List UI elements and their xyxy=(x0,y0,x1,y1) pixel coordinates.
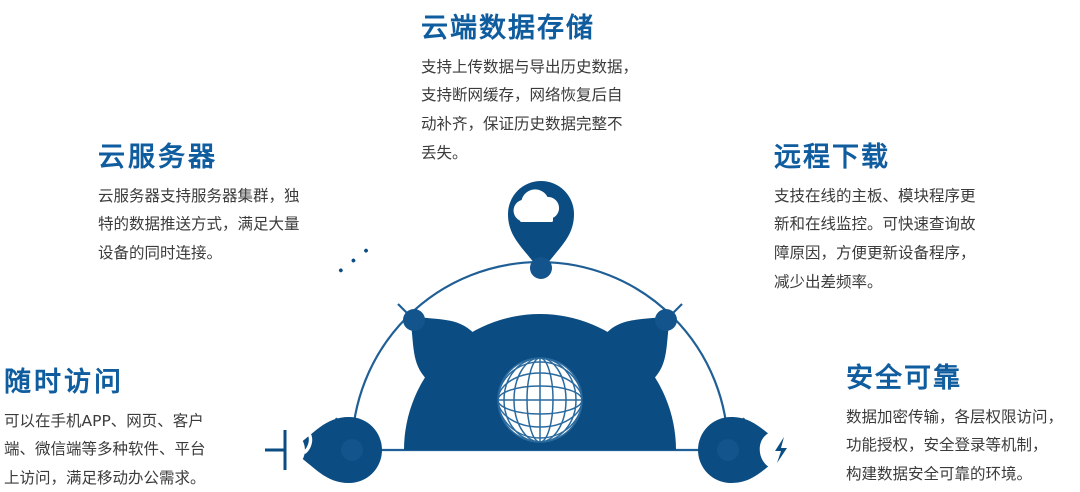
infographic-canvas: 云端数据存储 支持上传数据与导出历史数据， 支持断网缓存，网络恢复后自 动补齐，… xyxy=(0,0,1080,492)
text-line: 新和在线监控。可快速查询故 xyxy=(774,210,1014,239)
feature-body-cloud-server: 云服务器支持服务器集群，独 特的数据推送方式，满足大量 设备的同时连接。 xyxy=(98,182,346,268)
pin-cloud-server[interactable] xyxy=(331,240,498,403)
feature-body-secure-reliable: 数据加密传输，各层权限访问， 功能授权，安全登录等机制， 构建数据安全可靠的环境… xyxy=(846,403,1080,489)
text-line: 障原因，方便更新设备程序， xyxy=(774,239,1014,268)
node-bottom-right xyxy=(717,439,739,461)
feature-title-cloud-server: 云服务器 xyxy=(98,143,346,173)
feature-title-remote-download: 远程下载 xyxy=(774,143,1014,173)
feature-anytime-access: 随时访问 可以在手机APP、网页、客户 端、微信端等多种软件、平台 上访问，满足… xyxy=(4,368,250,492)
text-line: 特的数据推送方式，满足大量 xyxy=(98,210,346,239)
feature-title-anytime-access: 随时访问 xyxy=(4,368,250,398)
text-line: 构建数据安全可靠的环境。 xyxy=(846,460,1080,489)
text-line: 支持断网缓存，网络恢复后自 xyxy=(421,81,671,110)
pin-secure-reliable[interactable] xyxy=(698,417,797,483)
node-left-upper xyxy=(403,309,425,331)
feature-cloud-storage: 云端数据存储 支持上传数据与导出历史数据， 支持断网缓存，网络恢复后自 动补齐，… xyxy=(421,14,671,167)
text-line: 减少出差频率。 xyxy=(774,268,1014,297)
text-line: 云服务器支持服务器集群，独 xyxy=(98,182,346,211)
text-line: 支持上传数据与导出历史数据， xyxy=(421,53,671,82)
feature-body-remote-download: 支技在线的主板、模块程序更 新和在线监控。可快速查询故 障原因，方便更新设备程序… xyxy=(774,182,1014,297)
text-line: 设备的同时连接。 xyxy=(98,239,346,268)
text-line: 动补齐，保证历史数据完整不 xyxy=(421,110,671,139)
feature-cloud-server: 云服务器 云服务器支持服务器集群，独 特的数据推送方式，满足大量 设备的同时连接… xyxy=(98,143,346,268)
text-line: 端、微信端等多种软件、平台 xyxy=(4,435,250,464)
text-line: 可以在手机APP、网页、客户 xyxy=(4,407,250,436)
feature-body-cloud-storage: 支持上传数据与导出历史数据， 支持断网缓存，网络恢复后自 动补齐，保证历史数据完… xyxy=(421,53,671,168)
text-line: 数据加密传输，各层权限访问， xyxy=(846,403,1080,432)
feature-remote-download: 远程下载 支技在线的主板、模块程序更 新和在线监控。可快速查询故 障原因，方便更… xyxy=(774,143,1014,296)
text-line: 上访问，满足移动办公需求。 xyxy=(4,464,250,492)
text-line: 功能授权，安全登录等机制， xyxy=(846,431,1080,460)
text-line: 支技在线的主板、模块程序更 xyxy=(774,182,1014,211)
globe-wireframe-icon xyxy=(498,358,582,442)
computer-mouse-icon xyxy=(265,430,311,470)
text-line: 丢失。 xyxy=(421,139,671,168)
node-top xyxy=(530,257,552,279)
feature-secure-reliable: 安全可靠 数据加密传输，各层权限访问， 功能授权，安全登录等机制， 构建数据安全… xyxy=(846,364,1080,489)
feature-body-anytime-access: 可以在手机APP、网页、客户 端、微信端等多种软件、平台 上访问，满足移动办公需… xyxy=(4,407,250,492)
node-right-upper xyxy=(655,309,677,331)
pin-remote-download[interactable] xyxy=(583,243,745,404)
node-bottom-left xyxy=(341,439,363,461)
shield-lightning-icon xyxy=(760,432,797,468)
book-layers-icon xyxy=(683,243,745,305)
feature-title-secure-reliable: 安全可靠 xyxy=(846,364,1080,394)
pin-anytime-access[interactable] xyxy=(265,417,382,483)
feature-title-cloud-storage: 云端数据存储 xyxy=(421,14,671,44)
